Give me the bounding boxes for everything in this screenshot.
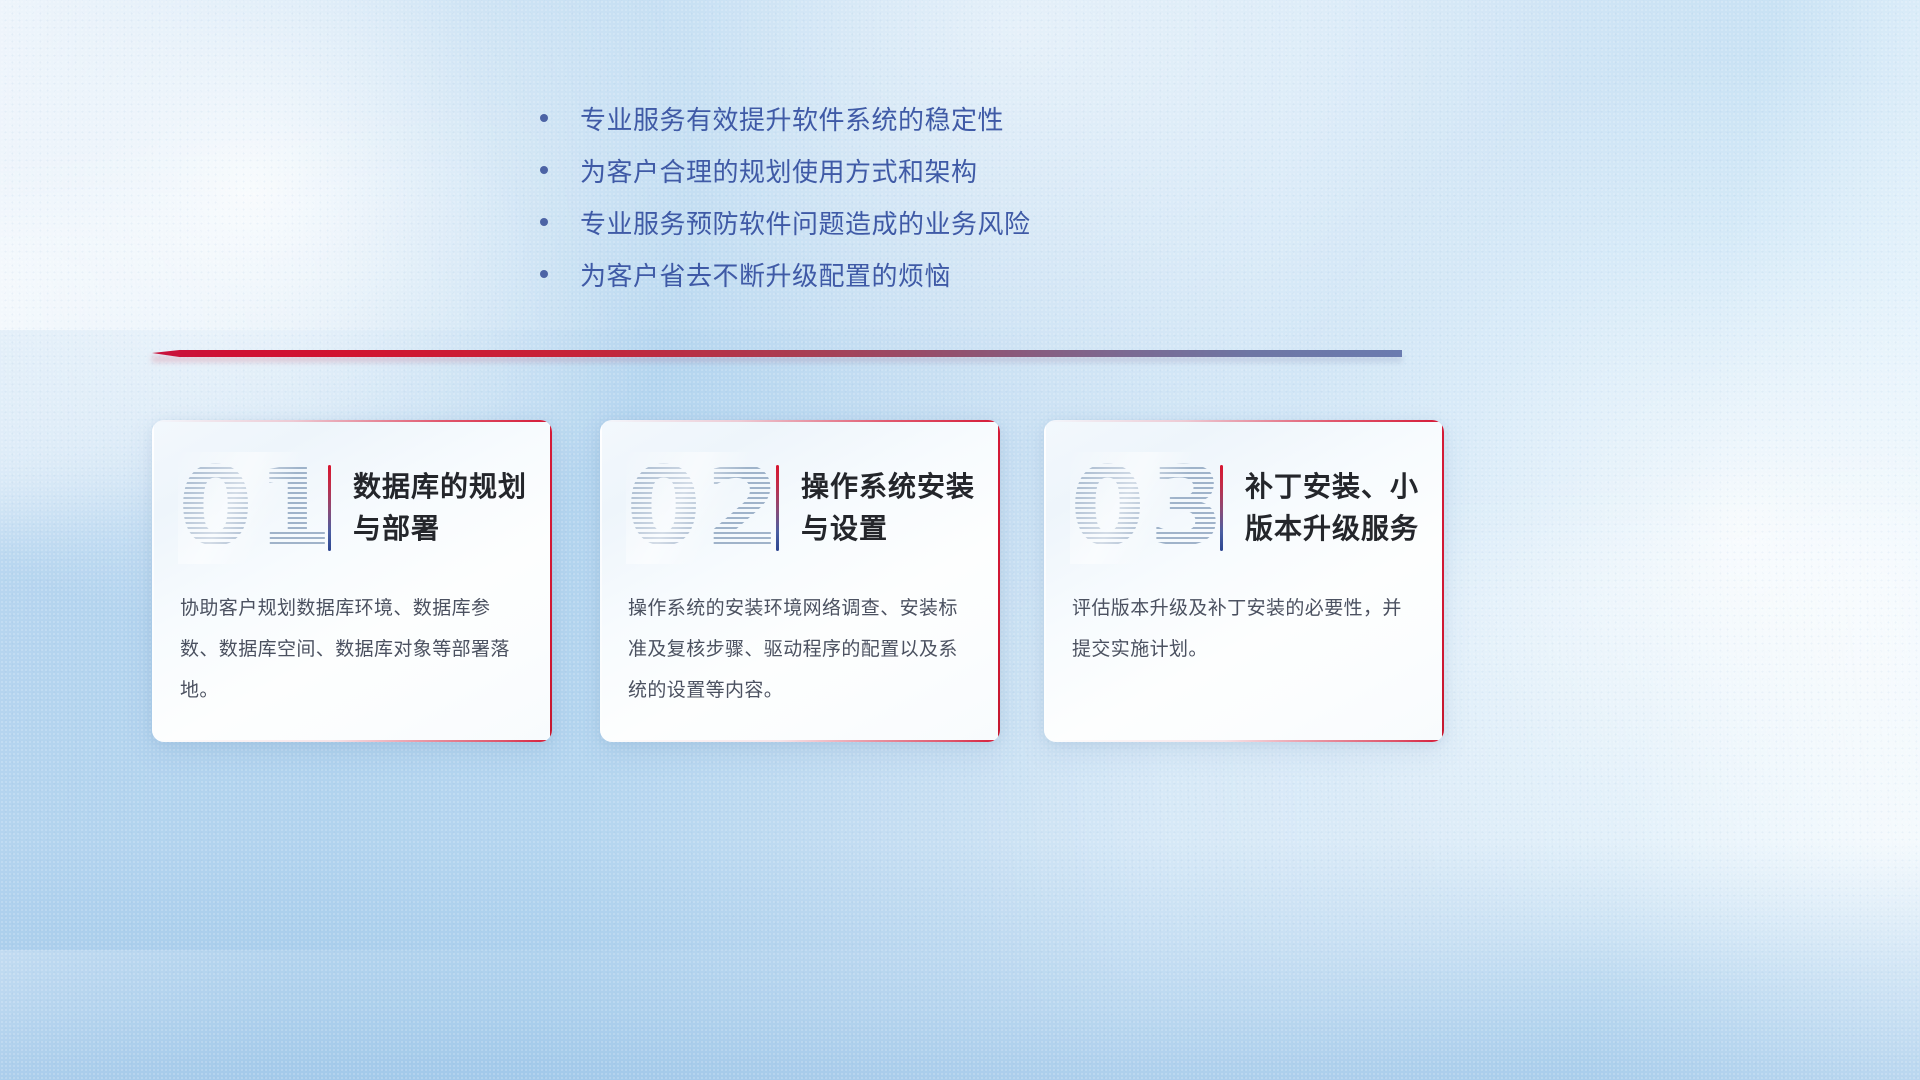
card-bottom-accent xyxy=(1044,740,1444,742)
card-number-watermark: 03 xyxy=(1070,452,1220,564)
bullet-dot-icon xyxy=(540,166,548,174)
service-card[interactable]: 01 数据库的规划与部署 协助客户规划数据库环境、数据库参数、数据库空间、数据库… xyxy=(152,420,552,742)
list-item: 为客户合理的规划使用方式和架构 xyxy=(540,144,1160,196)
card-body-text: 评估版本升级及补丁安装的必要性，并提交实施计划。 xyxy=(1072,588,1418,670)
list-item: 为客户省去不断升级配置的烦恼 xyxy=(540,248,1160,300)
card-number-watermark: 01 xyxy=(178,452,328,564)
card-number-text: 01 xyxy=(178,452,328,564)
card-bottom-accent xyxy=(152,740,552,742)
card-title: 补丁安装、小版本升级服务 xyxy=(1245,466,1444,550)
bullet-dot-icon xyxy=(540,114,548,122)
card-header: 01 数据库的规划与部署 xyxy=(152,448,552,568)
bullet-text: 专业服务预防软件问题造成的业务风险 xyxy=(580,204,1031,241)
card-number-watermark: 02 xyxy=(626,452,776,564)
service-card[interactable]: 02 操作系统安装与设置 操作系统的安装环境网络调查、安装标准及复核步骤、驱动程… xyxy=(600,420,1000,742)
bullet-text: 专业服务有效提升软件系统的稳定性 xyxy=(580,100,1004,137)
list-item: 专业服务预防软件问题造成的业务风险 xyxy=(540,196,1160,248)
service-card-list: 01 数据库的规划与部署 协助客户规划数据库环境、数据库参数、数据库空间、数据库… xyxy=(0,420,1920,750)
divider-line xyxy=(152,350,1402,357)
service-card[interactable]: 03 补丁安装、小版本升级服务 评估版本升级及补丁安装的必要性，并提交实施计划。 xyxy=(1044,420,1444,742)
bullet-text: 为客户省去不断升级配置的烦恼 xyxy=(580,256,951,293)
bullet-text: 为客户合理的规划使用方式和架构 xyxy=(580,152,978,189)
card-top-accent xyxy=(152,420,552,422)
card-body-text: 协助客户规划数据库环境、数据库参数、数据库空间、数据库对象等部署落地。 xyxy=(180,588,526,711)
card-title: 操作系统安装与设置 xyxy=(801,466,1000,550)
card-header: 02 操作系统安装与设置 xyxy=(600,448,1000,568)
section-divider xyxy=(152,346,1402,364)
card-title: 数据库的规划与部署 xyxy=(353,466,552,550)
card-body-text: 操作系统的安装环境网络调查、安装标准及复核步骤、驱动程序的配置以及系统的设置等内… xyxy=(628,588,974,711)
card-header: 03 补丁安装、小版本升级服务 xyxy=(1044,448,1444,568)
bullet-dot-icon xyxy=(540,218,548,226)
bullet-dot-icon xyxy=(540,270,548,278)
card-number-text: 03 xyxy=(1070,452,1220,564)
benefits-bullet-list: 专业服务有效提升软件系统的稳定性 为客户合理的规划使用方式和架构 专业服务预防软… xyxy=(540,92,1160,300)
card-bottom-accent xyxy=(600,740,1000,742)
list-item: 专业服务有效提升软件系统的稳定性 xyxy=(540,92,1160,144)
card-top-accent xyxy=(600,420,1000,422)
card-number-text: 02 xyxy=(626,452,776,564)
card-top-accent xyxy=(1044,420,1444,422)
